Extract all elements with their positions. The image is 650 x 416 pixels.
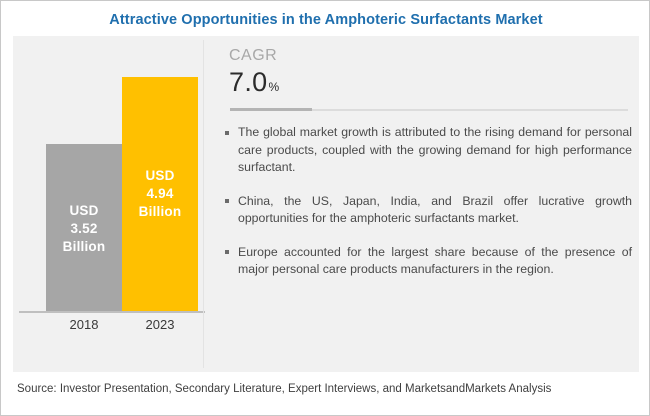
source-note: Source: Investor Presentation, Secondary… xyxy=(17,383,637,395)
page-title: Attractive Opportunities in the Amphoter… xyxy=(109,12,542,28)
cagr-value: 7.0 xyxy=(229,67,267,97)
bullet-text: The global market growth is attributed t… xyxy=(238,125,632,174)
bar-2023-label-group: USD 4.94 Billion xyxy=(139,167,182,221)
infographic-card: Attractive Opportunities in the Amphoter… xyxy=(0,0,650,416)
list-item: Europe accounted for the largest share b… xyxy=(224,244,632,279)
cagr-block: CAGR 7.0 % xyxy=(229,46,429,97)
content-panel: USD 3.52 Billion USD 4.94 Billion 2018 xyxy=(13,36,639,372)
chart-plot-area: USD 3.52 Billion USD 4.94 Billion xyxy=(17,46,203,311)
bar-2018[interactable]: USD 3.52 Billion xyxy=(46,144,122,311)
bar-2018-label-currency: USD xyxy=(63,202,106,220)
bar-2023[interactable]: USD 4.94 Billion xyxy=(122,77,198,311)
bullet-text: Europe accounted for the largest share b… xyxy=(238,245,632,277)
bar-chart: USD 3.52 Billion USD 4.94 Billion 2018 xyxy=(13,36,203,372)
list-item: The global market growth is attributed t… xyxy=(224,124,632,177)
insights-area: CAGR 7.0 % The global market growth is a… xyxy=(204,36,639,372)
bullet-text: China, the US, Japan, India, and Brazil … xyxy=(238,194,632,226)
x-axis-tick-labels: 2018 2023 xyxy=(17,317,203,339)
bar-2023-label-value: 4.94 xyxy=(139,185,182,203)
bar-2018-label-magnitude: Billion xyxy=(63,238,106,256)
bar-2023-label-currency: USD xyxy=(139,167,182,185)
bar-2023-label-magnitude: Billion xyxy=(139,203,182,221)
horizontal-rule xyxy=(230,108,628,111)
x-tick-2023: 2023 xyxy=(122,317,198,332)
bar-2018-label-value: 3.52 xyxy=(63,220,106,238)
cagr-percent-sign: % xyxy=(268,80,279,94)
x-axis-line xyxy=(19,311,205,313)
bullet-list: The global market growth is attributed t… xyxy=(224,124,632,279)
cagr-label: CAGR xyxy=(229,46,429,66)
title-bar: Attractive Opportunities in the Amphoter… xyxy=(1,7,650,33)
bullet-square-icon xyxy=(225,250,229,254)
bar-2018-label-group: USD 3.52 Billion xyxy=(63,202,106,256)
bullet-square-icon xyxy=(225,199,229,203)
bullet-square-icon xyxy=(225,131,229,135)
list-item: China, the US, Japan, India, and Brazil … xyxy=(224,193,632,228)
x-tick-2018: 2018 xyxy=(46,317,122,332)
horizontal-rule-accent xyxy=(230,108,312,111)
cagr-value-row: 7.0 % xyxy=(229,67,429,97)
